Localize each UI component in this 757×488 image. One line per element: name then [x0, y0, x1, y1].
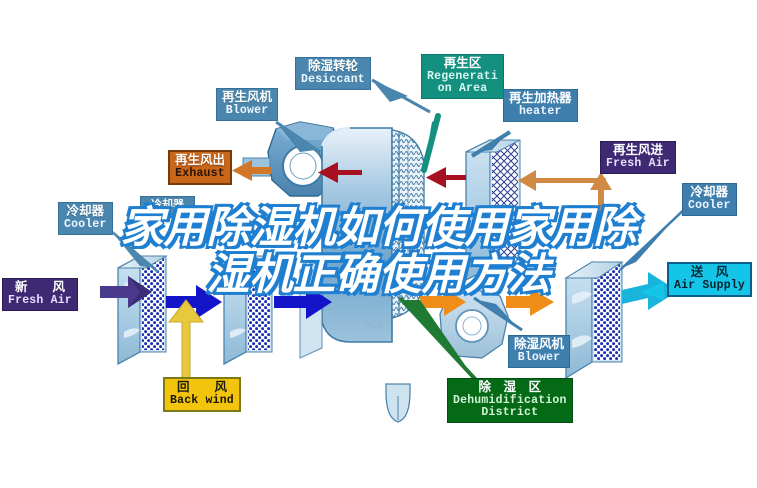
label-dehumidification-district: 除 湿 区 Dehumidification District	[447, 378, 573, 423]
label-regeneration-blower-cn: 再生风机	[222, 91, 272, 105]
supply-filter-box	[566, 262, 622, 378]
label-regeneration-blower: 再生风机 Blower	[216, 88, 278, 121]
label-cooler-left-cn: 冷却器	[64, 205, 107, 219]
label-regeneration-area-en2: on Area	[427, 83, 498, 95]
cooler-box-left-2	[224, 256, 272, 364]
label-fresh-air-inlet: 新 风 Fresh Air	[2, 278, 78, 311]
label-fresh-air-inlet-cn: 新 风	[8, 281, 72, 295]
label-regeneration-fresh-air-en: Fresh Air	[606, 158, 670, 170]
label-regeneration-area-cn: 再生区	[427, 57, 498, 71]
label-desiccant-wheel: 除湿转轮 Desiccant	[295, 57, 371, 90]
label-desiccant-wheel-cn: 除湿转轮	[301, 60, 365, 74]
label-dehumidification-blower-cn: 除湿风机	[514, 338, 564, 352]
regen-hot-arrow-right	[426, 167, 466, 188]
diagram-canvas: xts 除湿转轮 Desiccant 再生风机 Blower 再生区 Regen…	[0, 0, 757, 488]
label-cooler-right-cn: 冷却器	[688, 186, 731, 200]
label-regeneration-heater-cn: 再生加热器	[509, 92, 572, 106]
label-regeneration-heater: 再生加热器 heater	[503, 89, 578, 122]
label-dehumidification-blower: 除湿风机 Blower	[508, 335, 570, 368]
regeneration-heater-unit	[466, 140, 520, 280]
label-cooler-left-back: 冷却器	[140, 196, 195, 218]
label-regeneration-heater-en: heater	[509, 106, 572, 118]
label-exhaust: 再生风出 Exhaust	[168, 150, 232, 185]
label-dehumidification-blower-en: Blower	[514, 352, 564, 364]
label-desiccant-wheel-en: Desiccant	[301, 74, 365, 86]
label-cooler-left: 冷却器 Cooler	[58, 202, 113, 235]
cooler-box-left-1	[118, 256, 166, 364]
label-regeneration-blower-en: Blower	[222, 105, 272, 117]
label-air-supply: 送 风 Air Supply	[667, 262, 752, 297]
label-back-wind-cn: 回 风	[170, 381, 234, 395]
diagram-artboard: xts 除湿转轮 Desiccant 再生风机 Blower 再生区 Regen…	[0, 0, 757, 488]
dry-air-arrow-2	[506, 288, 554, 316]
label-regeneration-fresh-air: 再生风进 Fresh Air	[600, 141, 676, 174]
label-regeneration-fresh-air-cn: 再生风进	[606, 144, 670, 158]
label-air-supply-en: Air Supply	[674, 280, 745, 292]
label-regeneration-area: 再生区 Regenerati on Area	[421, 54, 504, 99]
dehumidifier-illustration: xts	[0, 0, 757, 488]
label-exhaust-cn: 再生风出	[175, 154, 225, 168]
label-exhaust-en: Exhaust	[175, 168, 225, 180]
label-air-supply-cn: 送 风	[674, 266, 745, 280]
label-cooler-left-en: Cooler	[64, 219, 107, 231]
watermark-text: xts	[366, 316, 383, 331]
label-dehumidification-district-cn: 除 湿 区	[453, 381, 567, 395]
label-cooler-left-back-cn: 冷却器	[151, 200, 184, 212]
label-fresh-air-inlet-en: Fresh Air	[8, 295, 72, 307]
label-back-wind-en: Back wind	[170, 395, 234, 407]
label-cooler-right: 冷却器 Cooler	[682, 183, 737, 216]
label-back-wind: 回 风 Back wind	[163, 377, 241, 412]
label-cooler-right-en: Cooler	[688, 200, 731, 212]
label-dehumidification-district-en2: District	[453, 407, 567, 419]
